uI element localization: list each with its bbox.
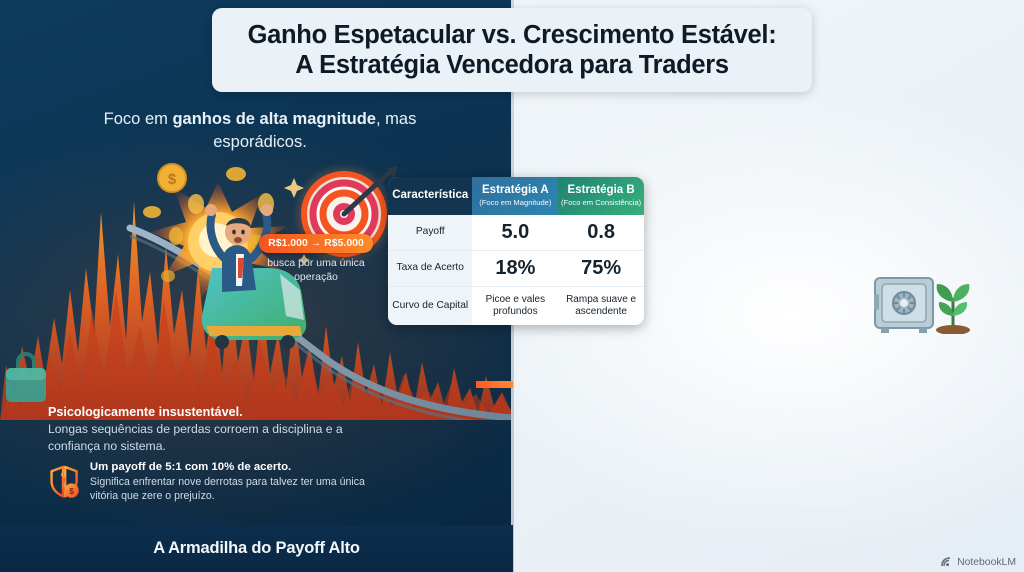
left-text-block-2: $ Um payoff de 5:1 com 10% de acerto. Si…	[48, 458, 378, 506]
infographic-canvas: $	[0, 0, 1024, 572]
comparison-table: Característica Estratégia A (Foco em Mag…	[388, 177, 644, 325]
row0-value-a: 5.0	[472, 215, 558, 251]
row2-value-a: Picoe e vales profundos	[472, 287, 558, 326]
row1-value-b: 75%	[558, 251, 644, 287]
left-block2-heading: Um payoff de 5:1 com 10% de acerto.	[90, 460, 378, 474]
left-subtitle-bold: ganhos de alta magnitude	[172, 110, 376, 128]
broken-shield-coin-icon: $	[48, 458, 81, 506]
table-header-strategy-a: Estratégia A (Foco em Magnitude)	[472, 177, 558, 215]
row2-value-b: Rampa suave e ascendente	[558, 287, 644, 326]
page-title-line2: A Estratégia Vencedora para Traders	[295, 50, 729, 80]
left-subtitle: Foco em ganhos de alta magnitude, mas es…	[60, 108, 460, 154]
left-block2-body: Significa enfrentar nove derrotas para t…	[90, 476, 378, 504]
notebooklm-watermark: NotebookLM	[941, 556, 1016, 568]
left-footer-label: A Armadilha do Payoff Alto	[153, 539, 360, 558]
left-footer-banner: A Armadilha do Payoff Alto	[0, 525, 513, 572]
callout-subtext: busca por uma única operação	[257, 257, 375, 284]
page-title-line1: Ganho Espetacular vs. Crescimento Estáve…	[248, 20, 777, 50]
row2-feature: Curvo de Capital	[388, 287, 472, 326]
callout-pill-amount: R$1.000 → R$5.000	[259, 234, 373, 253]
svg-text:$: $	[168, 171, 177, 188]
header-a-main: Estratégia A	[474, 184, 556, 197]
table-header-strategy-b: Estratégia B (Foco em Consistência)	[558, 177, 644, 215]
row0-value-b: 0.8	[558, 215, 644, 251]
left-subtitle-pre: Foco em	[104, 110, 173, 128]
table-row: Taxa de Acerto 18% 75%	[388, 251, 644, 287]
table-row: Payoff 5.0 0.8	[388, 215, 644, 251]
left-callout: R$1.000 → R$5.000 busca por uma única op…	[257, 233, 375, 284]
svg-text:$: $	[69, 486, 74, 496]
row1-feature: Taxa de Acerto	[388, 251, 472, 287]
table-row: Curvo de Capital Picoe e vales profundos…	[388, 287, 644, 326]
header-b-sub: (Foco em Consistência)	[560, 198, 642, 207]
notebooklm-icon	[941, 556, 953, 568]
row0-feature: Payoff	[388, 215, 472, 251]
left-block1-body: Longas sequências de perdas corroem a di…	[48, 421, 348, 453]
header-b-main: Estratégia B	[560, 184, 642, 197]
watermark-label: NotebookLM	[957, 557, 1016, 568]
table-header-feature: Característica	[388, 177, 472, 215]
table-header-row: Característica Estratégia A (Foco em Mag…	[388, 177, 644, 215]
safe-vault-plant-icon	[871, 272, 973, 334]
left-text-block-1: Psicologicamente insustentável. Longas s…	[48, 404, 348, 454]
row1-value-a: 18%	[472, 251, 558, 287]
header-feature-main: Característica	[390, 189, 470, 202]
left-block1-heading: Psicologicamente insustentável.	[48, 404, 348, 420]
divider-accent-marker	[476, 381, 513, 388]
title-card: Ganho Espetacular vs. Crescimento Estáve…	[212, 8, 812, 92]
header-a-sub: (Foco em Magnitude)	[474, 198, 556, 207]
